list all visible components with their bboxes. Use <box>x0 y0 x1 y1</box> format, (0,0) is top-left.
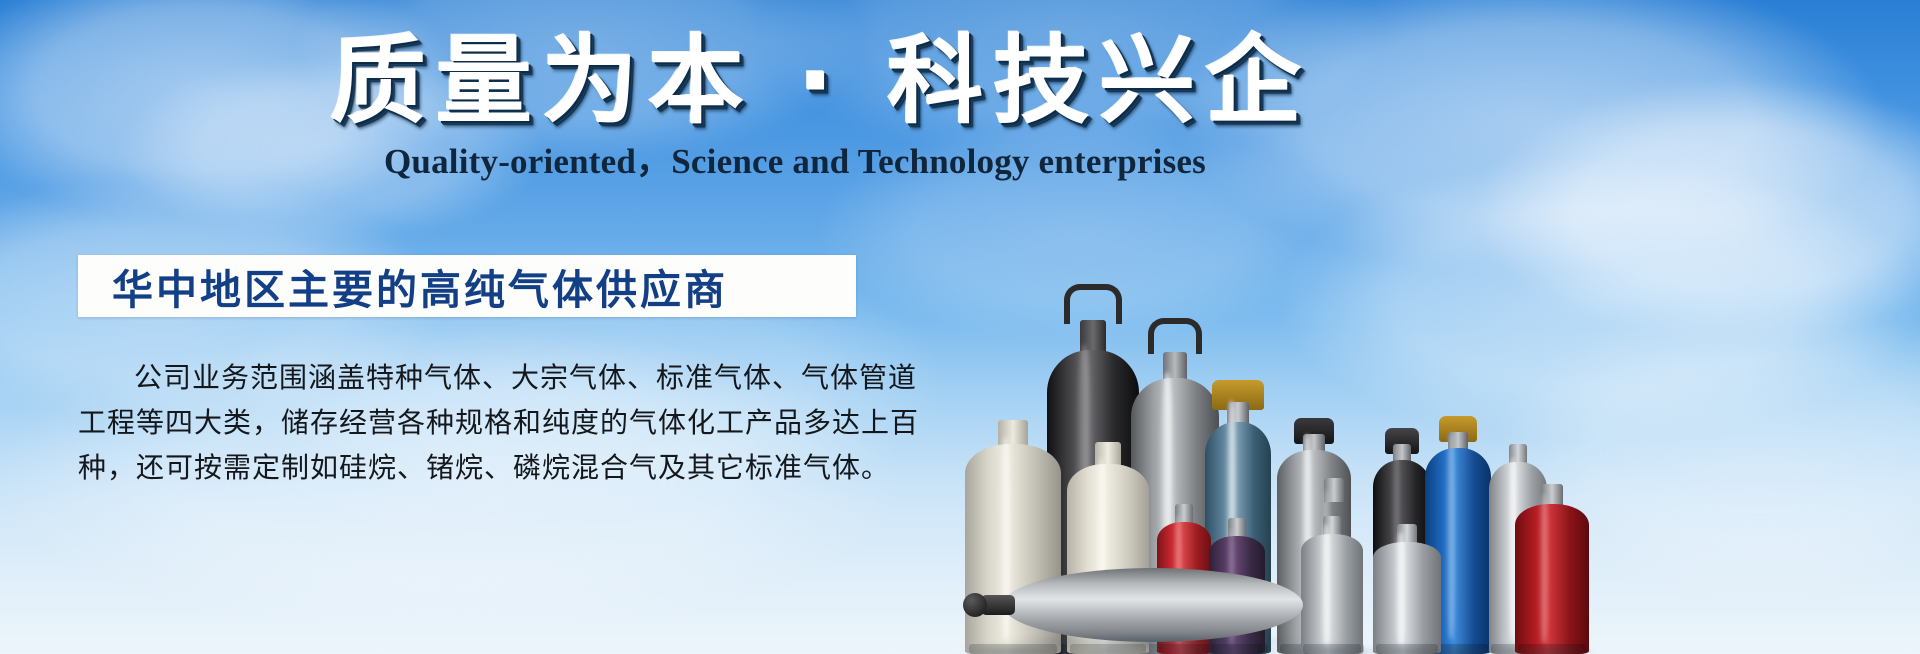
cylinder-dark-red <box>1515 484 1589 654</box>
tagline-box: 华中地区主要的高纯气体供应商 <box>78 255 856 317</box>
cylinder-aluminium-front <box>1301 516 1363 654</box>
banner-headline: 质量为本 · 科技兴企 <box>330 22 1260 140</box>
tagline-text: 华中地区主要的高纯气体供应商 <box>78 256 728 316</box>
paragraph-line: 种，还可按需定制如硅烷、锗烷、磷烷混合气及其它标准气体。 <box>78 445 868 490</box>
body-paragraph: 公司业务范围涵盖特种气体、大宗气体、标准气体、气体管道 工程等四大类，储存经营各… <box>78 355 868 490</box>
cylinder-aluminium-short <box>1373 524 1441 654</box>
product-photo-group <box>955 150 1920 654</box>
paragraph-line: 工程等四大类，储存经营各种规格和纯度的气体化工产品多达上百 <box>78 400 868 445</box>
paragraph-line: 公司业务范围涵盖特种气体、大宗气体、标准气体、气体管道 <box>78 355 868 400</box>
cylinder-lying-silver <box>1003 568 1303 642</box>
knob-icon <box>963 593 987 617</box>
promo-banner: 质量为本 · 科技兴企 Quality-oriented，Science and… <box>0 0 1920 654</box>
